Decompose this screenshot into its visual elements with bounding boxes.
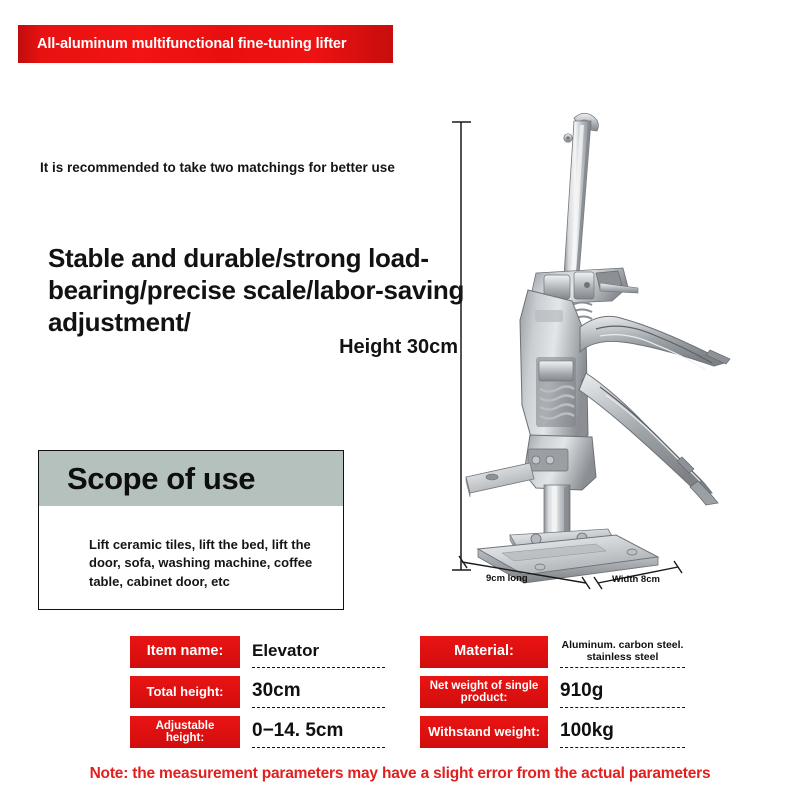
spec-value-wrap: 30cm	[252, 676, 385, 708]
spec-value-adjustable-height: 0−14. 5cm	[252, 720, 343, 742]
spec-value-total-height: 30cm	[252, 680, 301, 702]
spec-row: Net weight of single product: 910g	[420, 676, 685, 708]
spec-label-item-name: Item name:	[130, 636, 240, 668]
ratchet-rod	[564, 113, 599, 275]
scope-of-use-title: Scope of use	[67, 461, 255, 497]
spec-row: Total height: 30cm	[130, 676, 385, 708]
scope-of-use-description: Lift ceramic tiles, lift the bed, lift t…	[89, 536, 325, 591]
measurement-note: Note: the measurement parameters may hav…	[0, 765, 800, 783]
lower-handle-lever	[579, 373, 718, 505]
spec-row: Adjustable height: 0−14. 5cm	[130, 716, 385, 748]
side-mount-bracket	[466, 463, 534, 497]
spec-value-wrap: Aluminum. carbon steel. stainless steel	[560, 636, 685, 668]
spec-value-withstand-weight: 100kg	[560, 720, 614, 742]
spec-label-withstand-weight: Withstand weight:	[420, 716, 548, 748]
upper-handle-lever	[580, 316, 730, 370]
spec-row: Item name: Elevator	[130, 636, 385, 668]
headline-text: Stable and durable/strong load-bearing/p…	[48, 243, 468, 339]
scope-of-use-body: Lift ceramic tiles, lift the bed, lift t…	[39, 506, 343, 591]
spec-value-wrap: 100kg	[560, 716, 685, 748]
recommendation-text: It is recommended to take two matchings …	[40, 160, 395, 175]
spec-row: Withstand weight: 100kg	[420, 716, 685, 748]
lifter-tool-illustration: 9cm long Width 8cm	[440, 105, 800, 605]
spec-label-total-height: Total height:	[130, 676, 240, 708]
spec-table-left: Item name: Elevator Total height: 30cm A…	[130, 636, 385, 756]
spec-value-material: Aluminum. carbon steel. stainless steel	[560, 639, 685, 664]
length-dimension-label: 9cm long	[486, 573, 528, 584]
spec-row: Material: Aluminum. carbon steel. stainl…	[420, 636, 685, 668]
spec-value-wrap: Elevator	[252, 636, 385, 668]
title-banner: All-aluminum multifunctional fine-tuning…	[18, 25, 393, 63]
spec-label-material: Material:	[420, 636, 548, 668]
height-label: Height 30cm	[48, 336, 458, 359]
spec-value-wrap: 0−14. 5cm	[252, 716, 385, 748]
spec-value-item-name: Elevator	[252, 641, 319, 661]
width-dimension-label: Width 8cm	[612, 574, 660, 585]
spec-value-net-weight: 910g	[560, 680, 603, 702]
spec-value-wrap: 910g	[560, 676, 685, 708]
spec-label-net-weight: Net weight of single product:	[420, 676, 548, 708]
title-banner-text: All-aluminum multifunctional fine-tuning…	[37, 36, 346, 52]
product-image: 9cm long Width 8cm	[440, 105, 800, 605]
spec-table-right: Material: Aluminum. carbon steel. stainl…	[420, 636, 685, 756]
scope-of-use-header: Scope of use	[39, 451, 343, 506]
scope-of-use-card: Scope of use Lift ceramic tiles, lift th…	[38, 450, 344, 610]
height-dimension-line	[452, 122, 471, 570]
spec-label-adjustable-height: Adjustable height:	[130, 716, 240, 748]
